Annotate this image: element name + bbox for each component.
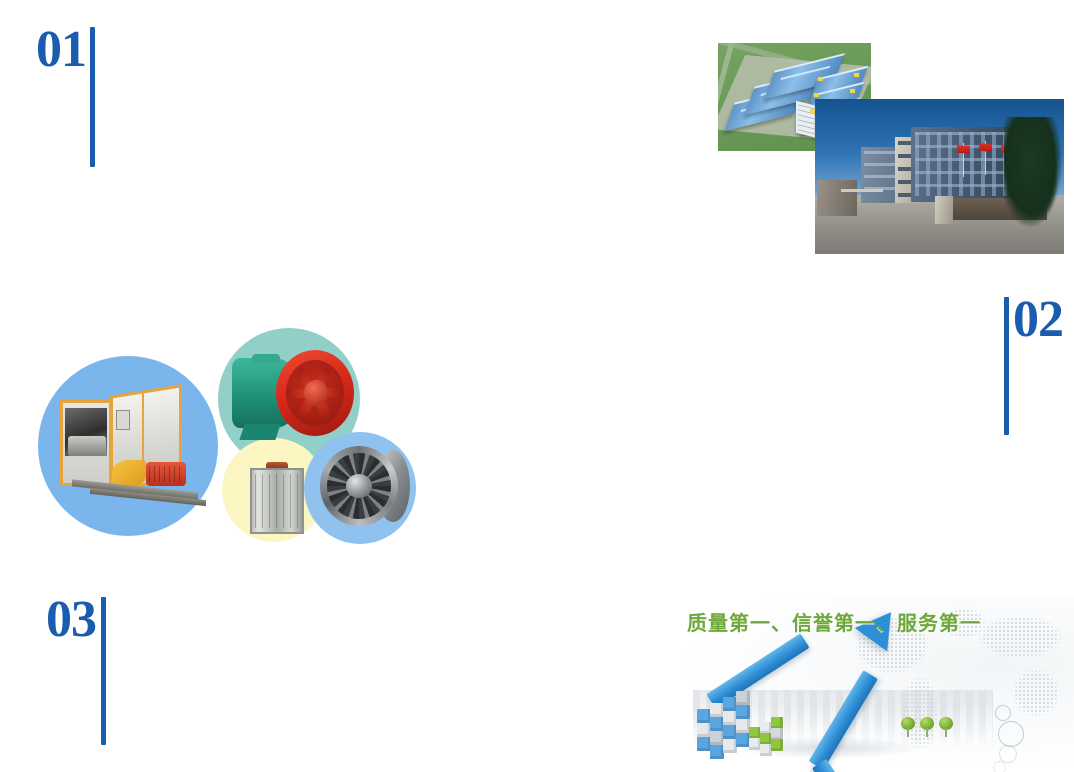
product-cabinet-box-fan	[60, 390, 210, 510]
damper-body	[250, 468, 304, 534]
section-marker-01: 01	[36, 24, 95, 167]
green-cube-cluster	[749, 713, 789, 757]
chinese-flag-icon	[957, 145, 970, 154]
render-accent-dot	[818, 77, 823, 81]
cube	[710, 717, 724, 731]
cabinet-fan-wheel	[68, 436, 106, 456]
cube	[736, 733, 750, 747]
cube	[736, 691, 750, 705]
render-accent-dot	[850, 89, 855, 93]
cube	[736, 719, 750, 733]
cube	[697, 737, 711, 751]
section-marker-02: 02	[1004, 294, 1063, 435]
tree-icon	[939, 717, 953, 737]
growth-slogan-banner: 质量第一、信誉第一、服务第一	[673, 597, 1074, 772]
page-root: { "page": { "background_color": "#ffffff…	[0, 0, 1074, 772]
cabinet-belt-guard	[112, 460, 146, 486]
axial-mounting-foot	[239, 424, 280, 440]
tree-trunk	[945, 728, 947, 737]
cube	[697, 723, 711, 737]
axial-hub	[304, 380, 328, 406]
product-impeller-fan	[318, 444, 410, 530]
impeller-nose-cone	[346, 474, 372, 498]
section-number-03: 03	[46, 594, 96, 646]
photo-gate-house	[817, 180, 857, 216]
company-slogan: 质量第一、信誉第一、服务第一	[687, 607, 981, 636]
render-accent-dot	[814, 93, 819, 97]
tree-trunk	[907, 728, 909, 737]
bubble-circle	[993, 761, 1006, 772]
render-accent-dot	[854, 73, 859, 77]
bubble-circle	[999, 745, 1017, 763]
cube	[723, 697, 737, 711]
section-rule-03	[101, 597, 106, 745]
section-number-01: 01	[36, 24, 86, 76]
cube	[697, 709, 711, 723]
photo-guard-kiosk	[935, 196, 953, 224]
product-axial-fan	[232, 344, 354, 454]
cabinet-control-box	[116, 410, 130, 430]
cube	[723, 711, 737, 725]
tree-icon	[901, 717, 915, 737]
photo-tree	[1004, 117, 1062, 227]
cube	[710, 745, 724, 759]
cube	[723, 739, 737, 753]
cube	[710, 731, 724, 745]
cube	[723, 725, 737, 739]
bubble-circle	[998, 721, 1024, 747]
chinese-flag-icon	[979, 143, 992, 152]
tree-icon	[920, 717, 934, 737]
office-building-photo	[815, 99, 1064, 254]
section-number-02: 02	[1013, 294, 1063, 346]
product-showcase-cluster	[36, 322, 426, 544]
cube	[736, 705, 750, 719]
section-marker-03: 03	[46, 594, 106, 745]
bubble-circle	[995, 705, 1011, 721]
section-rule-02	[1004, 297, 1009, 435]
cube	[771, 739, 783, 751]
cabinet-motor	[146, 462, 186, 486]
photo-gate-barrier	[841, 189, 883, 192]
section-rule-01	[90, 27, 95, 167]
cube	[710, 703, 724, 717]
tree-trunk	[926, 728, 928, 737]
axial-junction-box	[252, 354, 280, 363]
product-air-damper	[248, 462, 306, 534]
